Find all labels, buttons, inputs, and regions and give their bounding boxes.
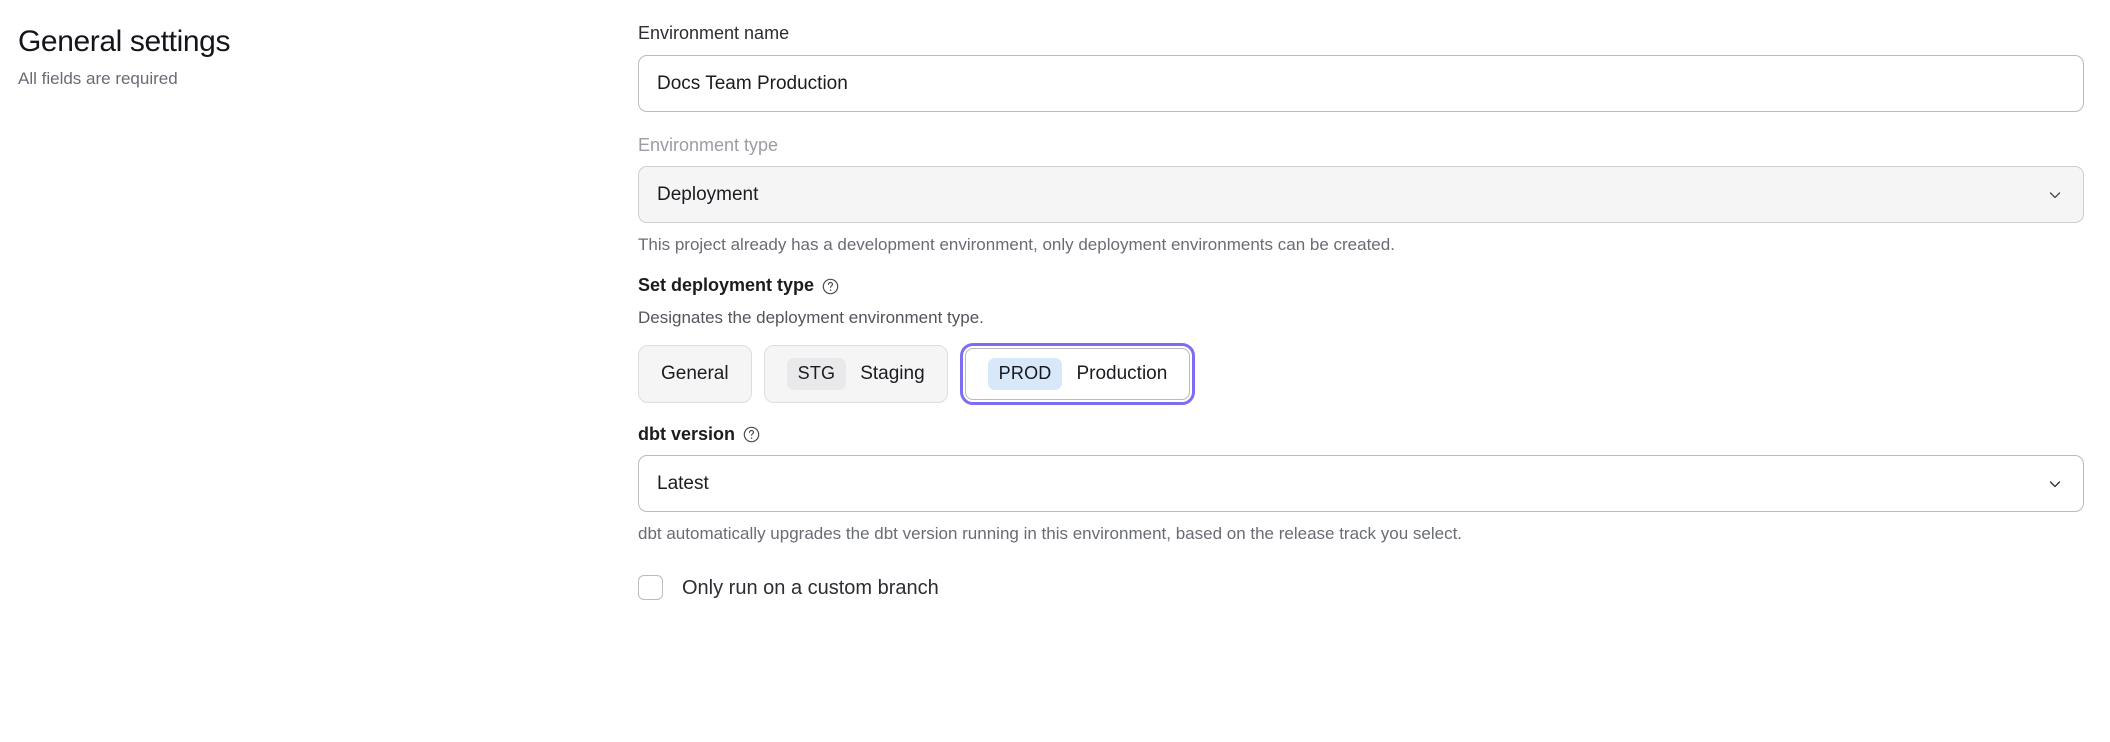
question-circle-icon[interactable] [743, 426, 760, 443]
deployment-type-label: Set deployment type [638, 274, 2084, 297]
deployment-type-field: Set deployment type Designates the deplo… [638, 274, 2084, 405]
stg-badge: STG [787, 358, 847, 390]
settings-header: General settings All fields are required [18, 24, 578, 90]
dbt-version-helper: dbt automatically upgrades the dbt versi… [638, 523, 2084, 545]
dbt-version-label: dbt version [638, 423, 2084, 446]
page-title: General settings [18, 24, 578, 60]
deployment-type-option-production-label: Production [1076, 364, 1167, 383]
environment-type-value: Deployment [657, 185, 758, 204]
environment-type-label: Environment type [638, 134, 2084, 157]
custom-branch-label[interactable]: Only run on a custom branch [682, 578, 939, 598]
dbt-version-label-text: dbt version [638, 423, 735, 446]
custom-branch-checkbox[interactable] [638, 575, 663, 600]
environment-name-field: Environment name Docs Team Production [638, 22, 2084, 112]
deployment-type-option-staging-label: Staging [860, 364, 924, 383]
environment-name-input[interactable]: Docs Team Production [638, 55, 2084, 112]
custom-branch-row: Only run on a custom branch [638, 575, 2084, 600]
environment-type-field: Environment type Deployment This project… [638, 134, 2084, 257]
environment-type-helper: This project already has a development e… [638, 234, 2084, 256]
settings-form: Environment name Docs Team Production En… [638, 22, 2084, 600]
environment-name-value: Docs Team Production [657, 74, 848, 93]
deployment-type-options: General STG Staging PROD Production [638, 343, 2084, 405]
dbt-version-field: dbt version Latest dbt automatica [638, 423, 2084, 546]
environment-name-label: Environment name [638, 22, 2084, 45]
deployment-type-option-general[interactable]: General [638, 345, 752, 403]
deployment-type-description: Designates the deployment environment ty… [638, 307, 2084, 329]
chevron-down-icon [2046, 186, 2064, 204]
deployment-type-option-production-focus-ring: PROD Production [960, 343, 1196, 405]
page-subtitle: All fields are required [18, 68, 578, 90]
chevron-down-icon [2046, 475, 2064, 493]
dbt-version-select[interactable]: Latest [638, 455, 2084, 512]
dbt-version-value: Latest [657, 474, 709, 493]
deployment-type-label-text: Set deployment type [638, 274, 814, 297]
deployment-type-option-production[interactable]: PROD Production [965, 348, 1191, 400]
deployment-type-option-general-label: General [661, 364, 729, 383]
general-settings-page: General settings All fields are required… [0, 0, 2110, 742]
question-circle-icon[interactable] [822, 278, 839, 295]
environment-type-select[interactable]: Deployment [638, 166, 2084, 223]
deployment-type-option-staging[interactable]: STG Staging [764, 345, 948, 403]
prod-badge: PROD [988, 358, 1063, 390]
